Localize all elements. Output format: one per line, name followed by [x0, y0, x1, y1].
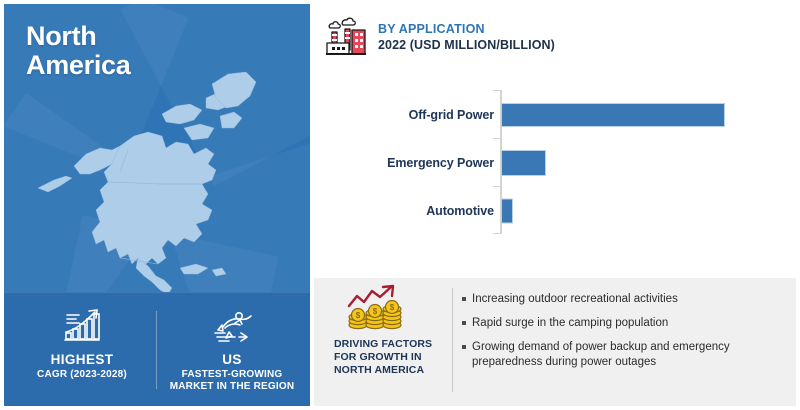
chart-kicker: BY APPLICATION: [378, 22, 555, 36]
driving-factors-title: DRIVING FACTORS FOR GROWTH IN NORTH AMER…: [334, 338, 444, 377]
list-item-text: Increasing outdoor recreational activiti…: [472, 292, 678, 307]
bar-row: Off-grid Power: [314, 90, 796, 140]
bar-chart: Off-grid Power Emergency Power Automotiv…: [314, 90, 796, 240]
growth-bar-chart-icon: [12, 305, 152, 347]
stat-title: US: [162, 352, 302, 367]
driving-factors-panel: $ $ $ DRIVING FACTORS FOR GROWTH IN NORT…: [314, 278, 796, 406]
stats-strip: HIGHEST CAGR (2023-2028): [4, 292, 310, 406]
chart-header-text: BY APPLICATION 2022 (USD MILLION/BILLION…: [378, 16, 555, 52]
bullet-icon: [462, 321, 466, 325]
svg-text:$: $: [390, 303, 395, 312]
bar-category-label: Emergency Power: [314, 156, 500, 170]
bar-track: [500, 90, 796, 140]
stat-title: HIGHEST: [12, 352, 152, 367]
bar-row: Automotive: [314, 186, 796, 236]
driving-factors-title-line3: NORTH AMERICA: [334, 364, 444, 377]
region-panel: North America: [4, 4, 310, 406]
chart-panel: BY APPLICATION 2022 (USD MILLION/BILLION…: [314, 4, 796, 276]
bar-value: [501, 103, 725, 127]
svg-text:$: $: [373, 307, 378, 316]
bar-value: [501, 150, 546, 176]
stat-subtitle: CAGR (2023-2028): [12, 369, 152, 381]
bar-value: [501, 199, 513, 224]
stat-subtitle: FASTEST-GROWING MARKET IN THE REGION: [162, 369, 302, 393]
factory-icon: [322, 16, 370, 62]
list-item-text: Growing demand of power backup and emerg…: [472, 340, 782, 370]
stat-fastest-growing: US FASTEST-GROWING MARKET IN THE REGION: [162, 305, 302, 393]
bar-row: Emergency Power: [314, 138, 796, 188]
stat-highest-cagr: HIGHEST CAGR (2023-2028): [12, 305, 152, 381]
stats-divider: [156, 311, 157, 389]
svg-text:$: $: [356, 311, 361, 320]
north-america-map-icon: [16, 62, 306, 297]
chart-subtitle: 2022 (USD MILLION/BILLION): [378, 38, 555, 52]
driving-factors-heading: $ $ $ DRIVING FACTORS FOR GROWTH IN NORT…: [334, 284, 444, 377]
bullet-icon: [462, 297, 466, 301]
list-item: Rapid surge in the camping population: [462, 316, 782, 331]
list-item: Growing demand of power backup and emerg…: [462, 340, 782, 370]
bullet-icon: [462, 345, 466, 349]
stat-subtitle-line2: MARKET IN THE REGION: [162, 381, 302, 393]
rocket-person-icon: [162, 305, 302, 347]
stat-subtitle-line1: FASTEST-GROWING: [162, 369, 302, 381]
list-item-text: Rapid surge in the camping population: [472, 316, 668, 331]
driving-factors-title-line2: FOR GROWTH IN: [334, 351, 444, 364]
bar-track: [500, 186, 796, 236]
drivers-divider: [452, 288, 453, 392]
infographic-root: North America: [0, 0, 800, 410]
region-title-line1: North: [26, 22, 130, 51]
bar-track: [500, 138, 796, 188]
growth-coins-icon: $ $ $: [344, 284, 406, 334]
list-item: Increasing outdoor recreational activiti…: [462, 292, 782, 307]
driving-factors-list: Increasing outdoor recreational activiti…: [462, 292, 782, 379]
chart-header: BY APPLICATION 2022 (USD MILLION/BILLION…: [322, 16, 555, 62]
bar-category-label: Automotive: [314, 204, 500, 218]
driving-factors-title-line1: DRIVING FACTORS: [334, 338, 444, 351]
bar-category-label: Off-grid Power: [314, 108, 500, 122]
